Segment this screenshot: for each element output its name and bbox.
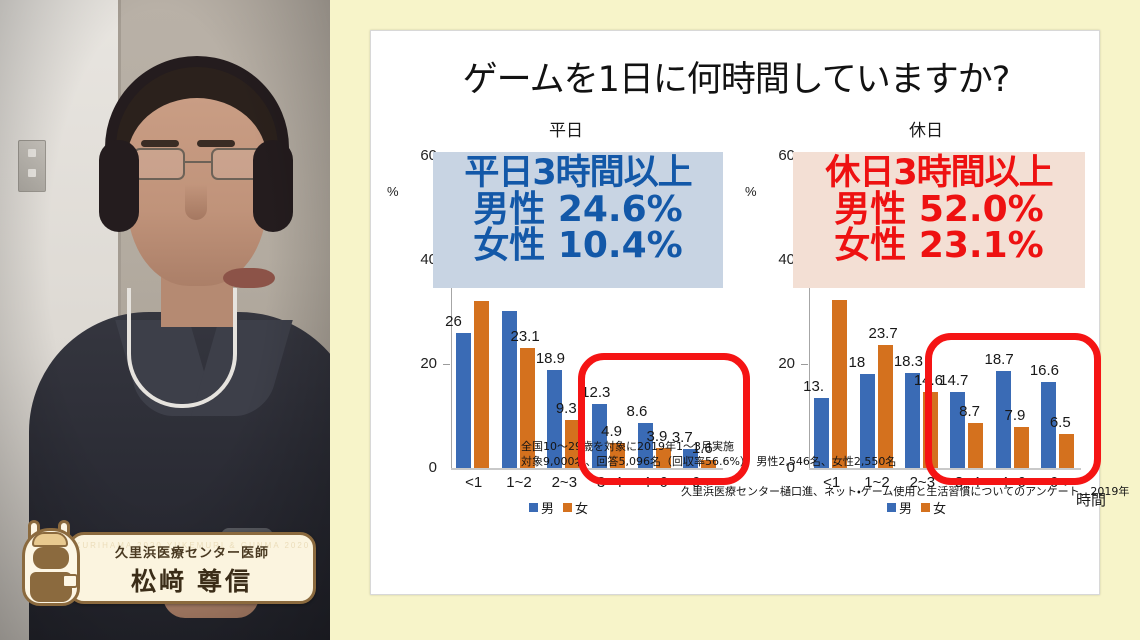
callout-weekday-heading: 平日3時間以上 [439, 156, 717, 192]
speaker-name: 松﨑 尊信 [71, 562, 313, 598]
name-plate-body: KURIHAMA 2020 YUKEMURI & GUNMA 2020 YUKE… [68, 532, 316, 604]
mascot-cup [62, 574, 78, 588]
mascot-face [33, 547, 69, 569]
legend-swatch [563, 503, 572, 512]
footnote-sample-size: 対象9,000名、回答5,096名（回収率56.6%）、男性2,546名、女性2… [521, 453, 896, 469]
headphone-earcup-right [253, 140, 293, 232]
participant-nose [185, 184, 207, 220]
bar-value-label: 26 [445, 313, 462, 330]
bar-value-label: 23.1 [511, 328, 540, 345]
screenshot-root: KURIHAMA 2020 YUKEMURI & GUNMA 2020 YUKE… [0, 0, 1140, 640]
legend-swatch [921, 503, 930, 512]
bar-value-label: 23.7 [869, 325, 898, 342]
bar-value-label: 16.6 [1030, 362, 1059, 379]
legend-label: 女 [933, 498, 946, 517]
bar-value-label: 6.5 [1050, 414, 1071, 431]
y-axis-tick-mark [801, 364, 808, 365]
y-axis-tick-label: 0 [395, 459, 437, 476]
bar-value-label: 18.9 [536, 350, 565, 367]
legend-label: 男 [541, 498, 554, 517]
bar-value-label: 4.9 [601, 423, 622, 440]
callout-weekday: 平日3時間以上 男性 24.6% 女性 10.4% [433, 152, 723, 288]
callout-holiday: 休日3時間以上 男性 52.0% 女性 23.1% [793, 152, 1085, 288]
name-plate-text: 久里浜医療センター医師 松﨑 尊信 [71, 535, 313, 598]
callout-holiday-heading: 休日3時間以上 [799, 156, 1079, 192]
bar-value-label: 18.3 [894, 353, 923, 370]
speaker-role: 久里浜医療センター医師 [71, 542, 313, 561]
callout-holiday-female: 女性 23.1% [799, 228, 1079, 265]
x-axis-tick-label: 3~4 [587, 474, 632, 491]
panel-title-holiday: 休日 [796, 116, 1056, 141]
callout-weekday-male: 男性 24.6% [439, 192, 717, 229]
callout-weekday-female: 女性 10.4% [439, 228, 717, 265]
bar-female [1059, 434, 1074, 468]
participant-mouth [223, 268, 275, 288]
bar-female [832, 300, 847, 468]
page-title: ゲームを1日に何時間していますか? [371, 51, 1101, 102]
bar-female [878, 345, 893, 468]
chart-legend: 男女 [739, 498, 1094, 517]
y-axis-tick-label: 60 [753, 147, 795, 164]
y-axis-tick-label: 20 [395, 355, 437, 372]
x-axis-tick-label: 4~6 [633, 474, 678, 491]
headphone-earcup-left [99, 140, 139, 232]
y-axis-tick-label: 40 [395, 251, 437, 268]
chart-legend: 男女 [381, 498, 736, 517]
panel-title-weekday: 平日 [436, 116, 696, 141]
headphone-wire [127, 288, 237, 408]
legend-item: 女 [921, 498, 946, 517]
bar-value-label: 13. [803, 378, 824, 395]
y-axis-tick-label: 20 [753, 355, 795, 372]
bar-female [1014, 427, 1029, 468]
bar-value-label: 7.9 [1005, 407, 1026, 424]
bar-male [456, 333, 471, 468]
legend-item: 男 [529, 498, 554, 517]
legend-item: 男 [887, 498, 912, 517]
bar-female [968, 423, 983, 468]
bar-value-label: 18.7 [985, 351, 1014, 368]
legend-label: 女 [575, 498, 588, 517]
footnote-survey-period: 全国10〜29歳を対象に2019年1〜3月実施 [521, 438, 734, 454]
callout-holiday-male: 男性 52.0% [799, 192, 1079, 229]
light-switch-icon [18, 140, 46, 192]
y-axis-tick-mark [443, 364, 450, 365]
mascot-hat [32, 532, 68, 547]
presentation-slide: ゲームを1日に何時間していますか? 平日 休日 %020406026<123.1… [370, 30, 1100, 595]
y-axis-tick-label: 60 [395, 147, 437, 164]
legend-label: 男 [899, 498, 912, 517]
bar-female [474, 301, 489, 468]
bar-female [923, 392, 938, 468]
mascot-icon [16, 522, 86, 612]
bar-value-label: 14.7 [939, 372, 968, 389]
y-axis-unit: % [745, 184, 757, 199]
x-axis-tick-label: <1 [451, 474, 496, 491]
x-axis-tick-label: 2~3 [542, 474, 587, 491]
bar-value-label: 18 [849, 354, 866, 371]
footnote-source: 久里浜医療センター樋口進、ネット・ゲーム使用と生活習慣についてのアンケート、20… [681, 483, 1129, 499]
legend-item: 女 [563, 498, 588, 517]
legend-swatch [887, 503, 896, 512]
bar-value-label: 8.7 [959, 403, 980, 420]
bar-value-label: 9.3 [556, 400, 577, 417]
legend-swatch [529, 503, 538, 512]
x-axis-tick-label: 1~2 [497, 474, 542, 491]
bar-value-label: 8.6 [627, 403, 648, 420]
speaker-name-plate: KURIHAMA 2020 YUKEMURI & GUNMA 2020 YUKE… [12, 522, 318, 614]
y-axis-tick-label: 40 [753, 251, 795, 268]
bar-value-label: 12.3 [581, 384, 610, 401]
y-axis-unit: % [387, 184, 399, 199]
